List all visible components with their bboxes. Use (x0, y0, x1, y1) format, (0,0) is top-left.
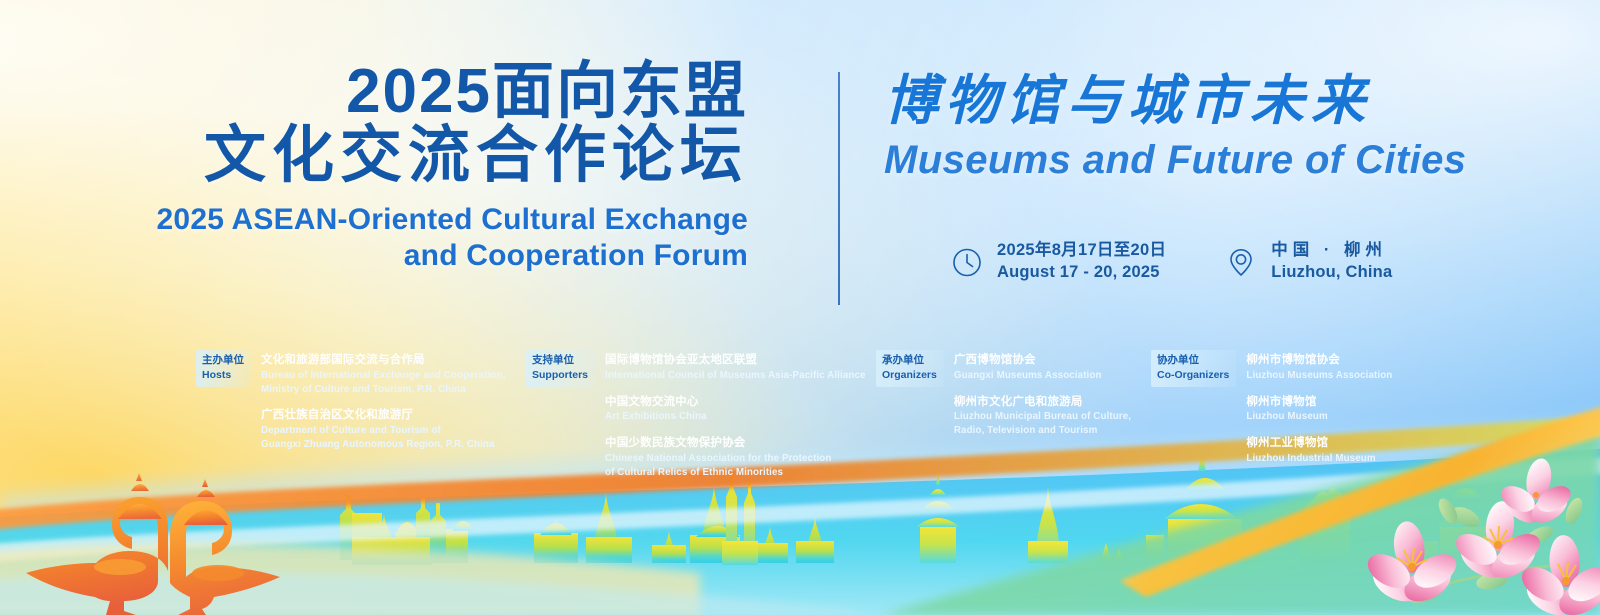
list-item: 中国少数民族文物保护协会 Chinese National Associatio… (605, 435, 866, 479)
org-name-en: Art Exhibitions China (605, 410, 866, 424)
forum-title-cn-line1: 2025面向东盟 (0, 60, 748, 124)
org-name-en: Department of Culture and Tourism of (261, 424, 505, 438)
org-name-en: Guangxi Museums Association (954, 369, 1131, 383)
org-name-cn: 中国文物交流中心 (605, 394, 866, 411)
org-name-cn: 广西壮族自治区文化和旅游厅 (261, 407, 505, 424)
org-name-en: Liuzhou Municipal Bureau of Culture, (954, 410, 1131, 424)
organizer-columns: 主办单位 Hosts 文化和旅游部国际交流与合作局 Bureau of Inte… (196, 350, 1496, 480)
theme-cn: 博物馆与城市未来 (884, 72, 1584, 130)
org-name-en: Liuzhou Museums Association (1246, 369, 1392, 383)
org-name-en: of Cultural Relics of Ethnic Minorities (605, 466, 866, 480)
org-name-en: Liuzhou Museum (1246, 410, 1392, 424)
org-name-cn: 中国少数民族文物保护协会 (605, 435, 866, 452)
organizer-group-hosts: 主办单位 Hosts 文化和旅游部国际交流与合作局 Bureau of Inte… (196, 350, 526, 480)
badge-co-organizers: 协办单位 Co-Organizers (1151, 350, 1236, 387)
event-location: 中国 · 柳州 Liuzhou, China (1224, 240, 1392, 284)
organizer-group-co-organizers: 协办单位 Co-Organizers 柳州市博物馆协会 Liuzhou Muse… (1151, 350, 1451, 480)
clock-icon (950, 245, 984, 279)
headline-right: 博物馆与城市未来 Museums and Future of Cities (884, 72, 1584, 183)
hosts-list: 文化和旅游部国际交流与合作局 Bureau of International E… (261, 350, 505, 452)
forum-title-cn-line2: 文化交流合作论坛 (0, 124, 748, 188)
list-item: 文化和旅游部国际交流与合作局 Bureau of International E… (261, 352, 505, 396)
event-date-en: August 17 - 20, 2025 (997, 262, 1166, 284)
org-name-cn: 柳州市博物馆 (1246, 394, 1392, 411)
event-meta: 2025年8月17日至20日 August 17 - 20, 2025 中国 ·… (950, 240, 1392, 284)
list-item: 柳州市文化广电和旅游局 Liuzhou Municipal Bureau of … (954, 394, 1131, 438)
list-item: 中国文物交流中心 Art Exhibitions China (605, 394, 866, 425)
badge-organizers-en: Organizers (882, 368, 937, 383)
organizer-group-organizers: 承办单位 Organizers 广西博物馆协会 Guangxi Museums … (876, 350, 1151, 480)
org-name-en: International Council of Museums Asia-Pa… (605, 369, 866, 383)
org-name-en: Ministry of Culture and Tourism, P.R. Ch… (261, 383, 505, 397)
badge-co-organizers-cn: 协办单位 (1157, 353, 1229, 368)
org-name-en: Radio, Television and Tourism (954, 424, 1131, 438)
event-location-cn: 中国 · 柳州 (1271, 240, 1392, 262)
headline-left: 2025面向东盟 文化交流合作论坛 2025 ASEAN-Oriented Cu… (0, 60, 790, 275)
org-name-cn: 柳州市博物馆协会 (1246, 352, 1392, 369)
org-name-cn: 柳州市文化广电和旅游局 (954, 394, 1131, 411)
event-location-text: 中国 · 柳州 Liuzhou, China (1271, 240, 1392, 284)
list-item: 柳州工业博物馆 Liuzhou Industrial Museum (1246, 435, 1392, 466)
event-banner: 2025面向东盟 文化交流合作论坛 2025 ASEAN-Oriented Cu… (0, 0, 1600, 615)
org-name-en: Guangxi Zhuang Autonomous Region, P.R. C… (261, 438, 505, 452)
badge-supporters: 支持单位 Supporters (526, 350, 595, 387)
location-pin-icon (1224, 245, 1258, 279)
forum-title-en-line1: 2025 ASEAN-Oriented Cultural Exchange (0, 202, 748, 239)
org-name-cn: 国际博物馆协会亚太地区联盟 (605, 352, 866, 369)
badge-organizers-cn: 承办单位 (882, 353, 937, 368)
badge-hosts: 主办单位 Hosts (196, 350, 251, 387)
forum-title-cn: 2025面向东盟 文化交流合作论坛 (0, 60, 790, 188)
badge-organizers: 承办单位 Organizers (876, 350, 944, 387)
list-item: 广西博物馆协会 Guangxi Museums Association (954, 352, 1131, 383)
event-date-text: 2025年8月17日至20日 August 17 - 20, 2025 (997, 240, 1166, 284)
list-item: 柳州市博物馆协会 Liuzhou Museums Association (1246, 352, 1392, 383)
badge-supporters-cn: 支持单位 (532, 353, 588, 368)
event-location-en: Liuzhou, China (1271, 262, 1392, 284)
forum-title-en: 2025 ASEAN-Oriented Cultural Exchange an… (0, 202, 790, 275)
org-name-en: Chinese National Association for the Pro… (605, 452, 866, 466)
title-divider (838, 72, 840, 305)
organizer-group-supporters: 支持单位 Supporters 国际博物馆协会亚太地区联盟 Internatio… (526, 350, 876, 480)
organizers-list: 广西博物馆协会 Guangxi Museums Association 柳州市文… (954, 350, 1131, 438)
supporters-list: 国际博物馆协会亚太地区联盟 International Council of M… (605, 350, 866, 480)
list-item: 柳州市博物馆 Liuzhou Museum (1246, 394, 1392, 425)
badge-hosts-cn: 主办单位 (202, 353, 244, 368)
event-date: 2025年8月17日至20日 August 17 - 20, 2025 (950, 240, 1166, 284)
list-item: 广西壮族自治区文化和旅游厅 Department of Culture and … (261, 407, 505, 451)
org-name-en: Liuzhou Industrial Museum (1246, 452, 1392, 466)
badge-hosts-en: Hosts (202, 368, 244, 383)
badge-supporters-en: Supporters (532, 368, 588, 383)
org-name-en: Bureau of International Exchange and Coo… (261, 369, 505, 383)
badge-co-organizers-en: Co-Organizers (1157, 368, 1229, 383)
forum-title-en-line2: and Cooperation Forum (0, 238, 748, 275)
org-name-cn: 广西博物馆协会 (954, 352, 1131, 369)
list-item: 国际博物馆协会亚太地区联盟 International Council of M… (605, 352, 866, 383)
theme-en: Museums and Future of Cities (884, 138, 1584, 183)
org-name-cn: 文化和旅游部国际交流与合作局 (261, 352, 505, 369)
org-name-cn: 柳州工业博物馆 (1246, 435, 1392, 452)
co-organizers-list: 柳州市博物馆协会 Liuzhou Museums Association 柳州市… (1246, 350, 1392, 466)
event-date-cn: 2025年8月17日至20日 (997, 240, 1166, 262)
